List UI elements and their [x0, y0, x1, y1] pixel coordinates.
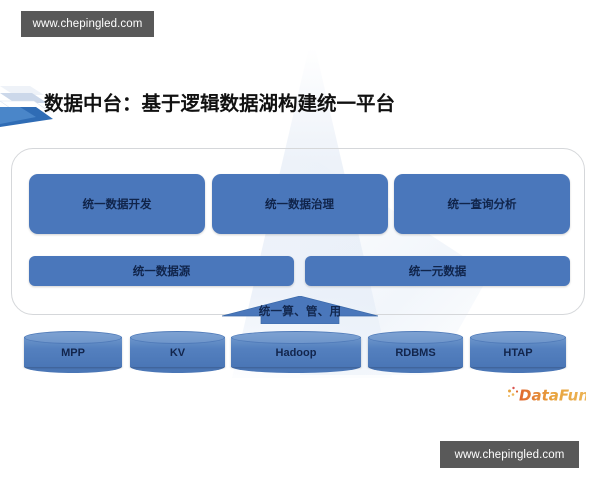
source-box-unified-metadata[interactable]: 统一元数据 — [305, 256, 570, 286]
datafun-dots-icon — [508, 387, 518, 397]
storage-cylinder-kv[interactable]: KV — [130, 331, 225, 373]
storage-cylinder-label: Hadoop — [231, 345, 361, 361]
service-box-label: 统一查询分析 — [448, 196, 517, 212]
cylinder-top — [368, 331, 463, 344]
watermark-top-left: www.chepingled.com — [21, 11, 154, 37]
source-box-label: 统一元数据 — [409, 263, 467, 279]
storage-cylinder-label: MPP — [24, 345, 122, 361]
slide-canvas: www.chepingled.com 数据中台：基于逻辑数据湖构建统一平台 统一… — [0, 0, 600, 480]
storage-engine-row: MPP KV Hadoop RDBMS HTAP — [24, 331, 566, 373]
storage-cylinder-label: KV — [130, 345, 225, 361]
service-box-data-development[interactable]: 统一数据开发 — [29, 174, 205, 234]
watermark-bottom-right: www.chepingled.com — [440, 441, 579, 468]
title-row: 数据中台：基于逻辑数据湖构建统一平台 — [0, 80, 600, 130]
service-box-row: 统一数据开发 统一数据治理 统一查询分析 — [29, 174, 570, 234]
service-box-label: 统一数据治理 — [265, 196, 334, 212]
cylinder-top — [470, 331, 566, 344]
service-box-label: 统一数据开发 — [83, 196, 152, 212]
storage-cylinder-rdbms[interactable]: RDBMS — [368, 331, 463, 373]
service-box-data-governance[interactable]: 统一数据治理 — [212, 174, 388, 234]
source-box-label: 统一数据源 — [133, 263, 191, 279]
datafun-logo-text: DataFun. — [519, 387, 586, 405]
storage-cylinder-mpp[interactable]: MPP — [24, 331, 122, 373]
unified-capability-arrow-group: 统一算、管、用 — [222, 296, 378, 326]
arrow-caption-label: 统一算、管、用 — [222, 303, 378, 319]
storage-cylinder-hadoop[interactable]: Hadoop — [231, 331, 361, 373]
datafun-logo: DataFun. — [506, 384, 586, 406]
cylinder-top — [231, 331, 361, 344]
cylinder-top — [24, 331, 122, 344]
source-box-row: 统一数据源 统一元数据 — [29, 256, 570, 286]
storage-cylinder-label: RDBMS — [368, 345, 463, 361]
storage-cylinder-label: HTAP — [470, 345, 566, 361]
storage-cylinder-htap[interactable]: HTAP — [470, 331, 566, 373]
cylinder-top — [130, 331, 225, 344]
service-box-query-analysis[interactable]: 统一查询分析 — [394, 174, 570, 234]
page-title: 数据中台：基于逻辑数据湖构建统一平台 — [44, 80, 584, 128]
source-box-unified-datasource[interactable]: 统一数据源 — [29, 256, 294, 286]
